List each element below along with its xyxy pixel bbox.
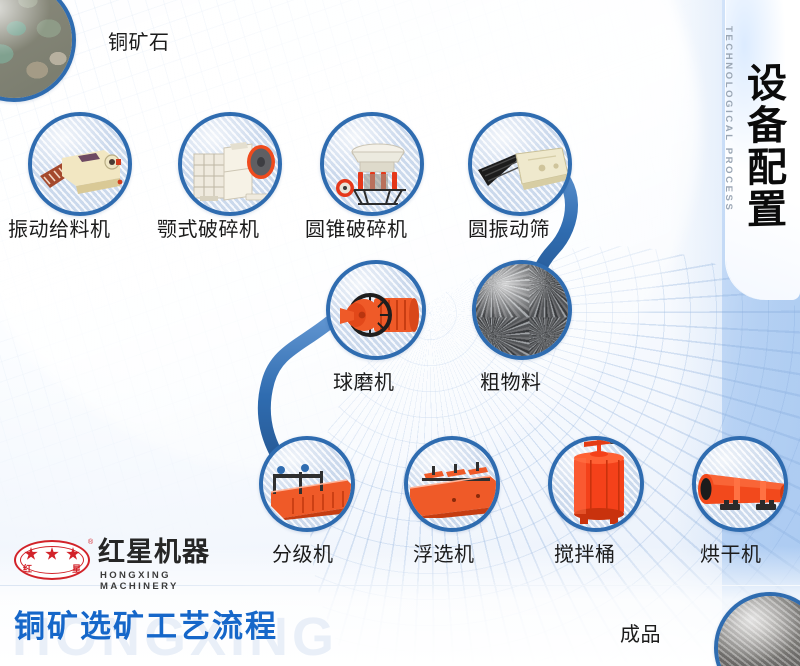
- label-vibrating-screen: 圆振动筛: [468, 213, 550, 242]
- logo-oval-characters: 红 星: [23, 562, 81, 575]
- star-icon: [24, 547, 38, 561]
- node-sheen: [476, 264, 568, 356]
- label-flotation-machine: 浮选机: [413, 538, 475, 567]
- label-coarse-material: 粗物料: [480, 366, 542, 395]
- cone-crusher-photo: [334, 138, 420, 210]
- ball-mill-photo: [330, 286, 426, 344]
- node-flotation-machine[interactable]: [404, 436, 500, 532]
- node-copper-ore[interactable]: [0, 0, 76, 102]
- label-jaw-crusher: 颚式破碎机: [157, 213, 260, 242]
- rotary-dryer-photo: [692, 460, 788, 518]
- label-finished-product: 成品: [620, 618, 661, 647]
- label-vibrating-feeder: 振动给料机: [8, 213, 111, 242]
- node-ball-mill[interactable]: [326, 260, 426, 360]
- node-coarse-material[interactable]: [472, 260, 572, 360]
- logo-char-xing: 星: [72, 562, 81, 575]
- label-cone-crusher: 圆锥破碎机: [305, 213, 408, 242]
- agitation-tank-photo: [560, 436, 640, 532]
- node-classifier[interactable]: [259, 436, 355, 532]
- label-classifier: 分级机: [272, 538, 334, 567]
- star-icon: [45, 547, 59, 561]
- label-copper-ore: 铜矿石: [108, 26, 170, 55]
- registered-trademark-icon: ®: [88, 539, 93, 546]
- node-mixing-tank[interactable]: [548, 436, 644, 532]
- flowchart-canvas: TECHNOLOGICAL PROCESS 设备配置 铜矿石: [0, 0, 800, 666]
- logo-stars: [24, 546, 80, 562]
- vibrating-feeder-photo: [34, 142, 132, 198]
- node-jaw-crusher[interactable]: [178, 112, 282, 216]
- star-icon: [66, 547, 80, 561]
- brand-logo[interactable]: 红 星 ® 红星机器 HONGXING MACHINERY: [14, 537, 214, 585]
- circular-vibrating-screen-photo: [476, 140, 572, 204]
- brand-name-english: HONGXING MACHINERY: [100, 570, 214, 592]
- jaw-crusher-photo: [190, 132, 282, 208]
- node-vibrating-feeder[interactable]: [28, 112, 132, 216]
- spiral-classifier-photo: [259, 458, 355, 520]
- node-finished-product[interactable]: [714, 592, 800, 666]
- node-dryer[interactable]: [692, 436, 788, 532]
- flotation-machine-photo: [404, 458, 500, 518]
- node-vibrating-screen[interactable]: [468, 112, 572, 216]
- label-mixing-tank: 搅拌桶: [554, 538, 616, 567]
- label-ball-mill: 球磨机: [333, 366, 395, 395]
- node-cone-crusher[interactable]: [320, 112, 424, 216]
- page-title: 铜矿选矿工艺流程: [14, 601, 278, 646]
- brand-name-chinese: 红星机器: [98, 537, 210, 569]
- label-dryer: 烘干机: [700, 538, 762, 567]
- logo-char-hong: 红: [23, 562, 32, 575]
